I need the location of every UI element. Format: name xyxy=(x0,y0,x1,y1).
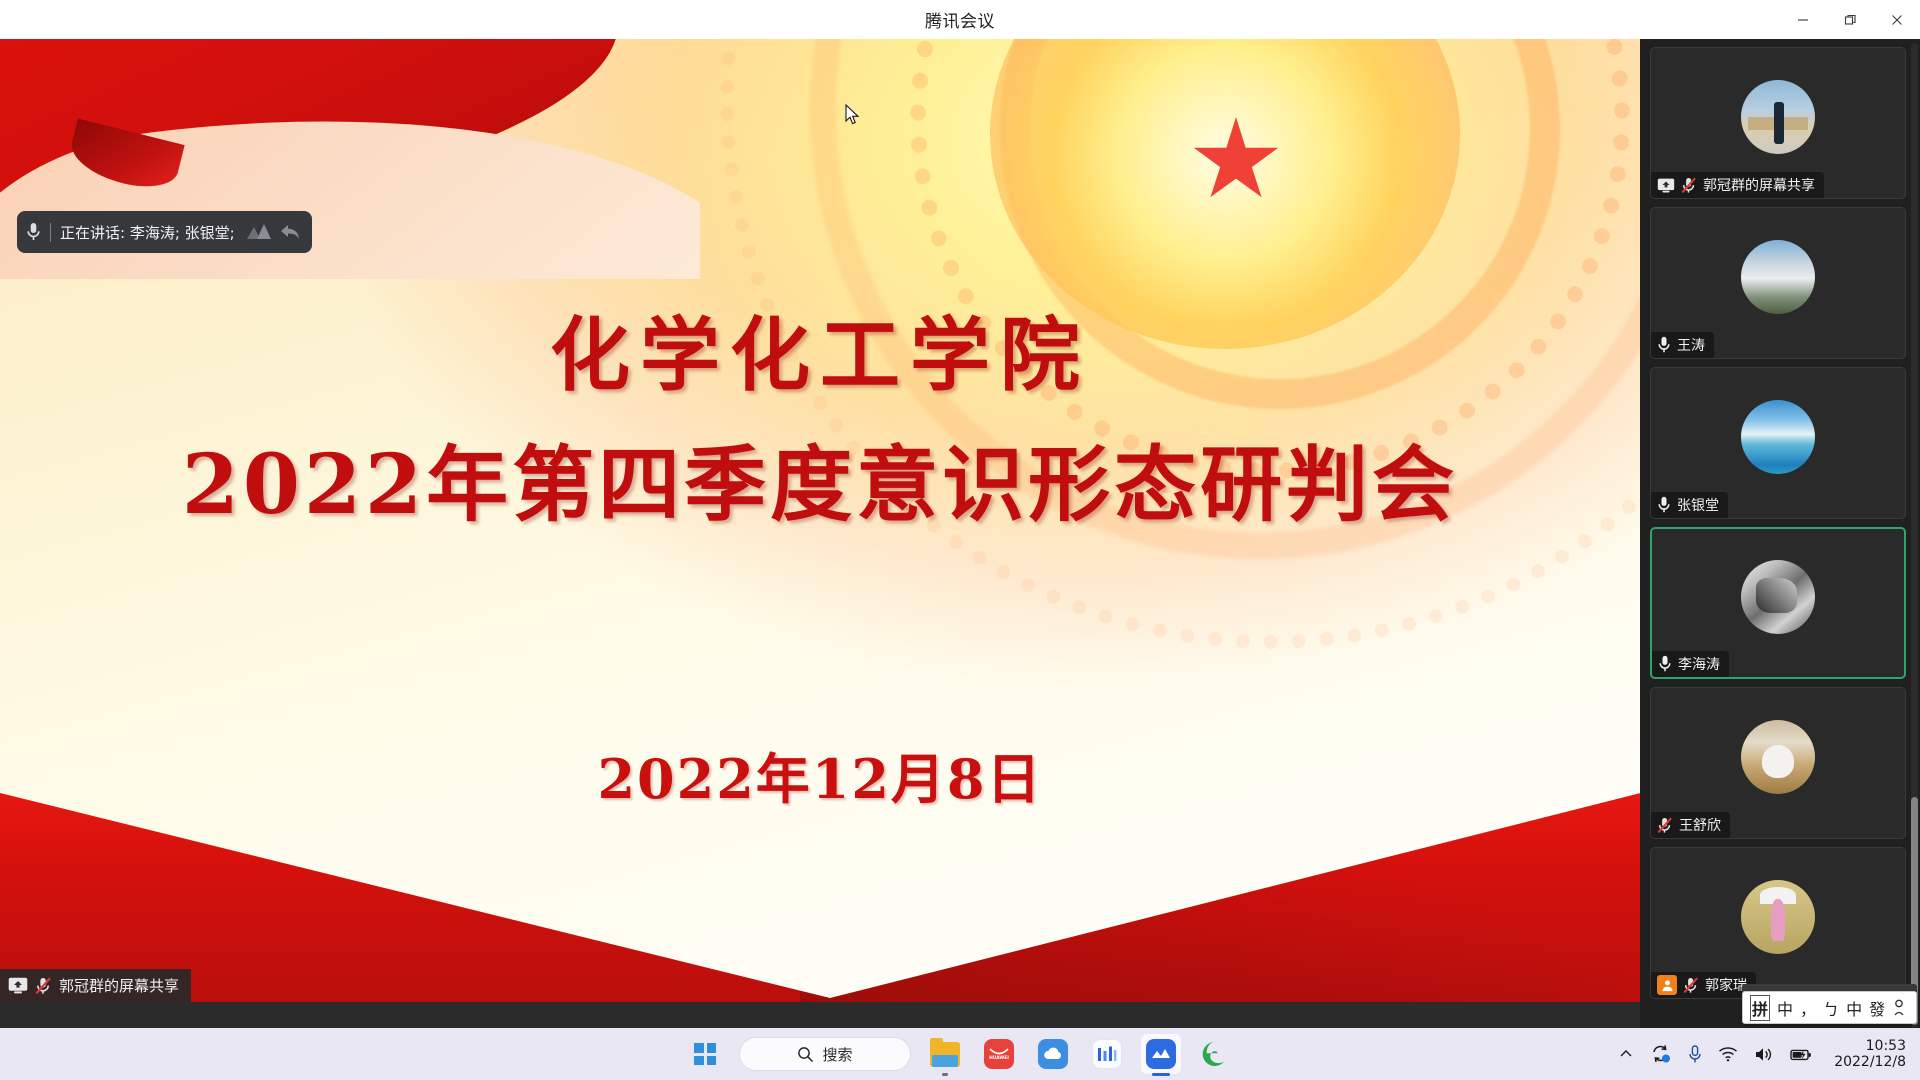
maximize-button[interactable] xyxy=(1826,0,1873,39)
ime-item-5[interactable]: 發 xyxy=(1869,996,1885,1020)
ime-item-1[interactable]: 中 xyxy=(1777,996,1793,1020)
taskbar-search-box[interactable]: 搜索 xyxy=(739,1037,911,1071)
close-button[interactable] xyxy=(1873,0,1920,39)
avatar xyxy=(1741,560,1815,634)
participant-tile[interactable]: 郭家瑞 xyxy=(1650,847,1906,999)
search-icon xyxy=(797,1046,814,1063)
participant-tile[interactable]: 王涛 xyxy=(1650,207,1906,359)
volume-icon[interactable] xyxy=(1754,1046,1774,1063)
clock-time: 10:53 xyxy=(1834,1038,1906,1054)
browser-icon xyxy=(1200,1039,1230,1069)
ime-floating-bar[interactable]: 拼 中 ， ㄅ 中 發 xyxy=(1742,991,1917,1024)
screen-share-status-label: 郭冠群的屏幕共享 xyxy=(59,975,179,996)
host-icon xyxy=(1657,975,1677,995)
participant-name: 郭冠群的屏幕共享 xyxy=(1703,175,1815,195)
microphone-muted-icon xyxy=(35,977,52,995)
ime-item-2[interactable]: ， xyxy=(1800,996,1816,1020)
ime-mode-pinyin[interactable]: 拼 xyxy=(1750,995,1770,1021)
speaking-indicator: 正在讲话: 李海涛; 张银堂; xyxy=(17,211,312,253)
tencent-meeting-icon xyxy=(1146,1039,1176,1069)
taskbar-app-file-explorer[interactable] xyxy=(925,1034,965,1074)
speaking-label: 正在讲话: 李海涛; 张银堂; xyxy=(60,222,235,243)
ime-settings-icon[interactable] xyxy=(1892,999,1906,1017)
chevron-up-icon[interactable] xyxy=(1618,1046,1634,1062)
participant-info-bar: 郭家瑞 xyxy=(1651,972,1756,998)
slide-title-line-1: 化学化工学院 xyxy=(0,315,1640,395)
sync-icon[interactable] xyxy=(1650,1044,1672,1064)
mouse-cursor-icon xyxy=(845,104,861,126)
participant-name: 王舒欣 xyxy=(1679,815,1721,835)
microphone-icon xyxy=(26,222,41,242)
participant-info-bar: 王舒欣 xyxy=(1651,812,1730,838)
search-placeholder-label: 搜索 xyxy=(822,1044,852,1065)
microphone-muted-icon xyxy=(1657,817,1673,834)
participant-tile-active-speaker[interactable]: 李海涛 xyxy=(1650,527,1906,679)
avatar xyxy=(1741,720,1815,794)
windows-start-button[interactable] xyxy=(685,1034,725,1074)
presentation-slide: 化学化工学院 2022年第四季度意识形态研判会 2022年12月8日 xyxy=(0,39,1640,1002)
participant-tile[interactable]: 张银堂 xyxy=(1650,367,1906,519)
microphone-muted-icon xyxy=(1681,177,1697,194)
svg-text:HUAWEI: HUAWEI xyxy=(989,1055,1009,1061)
participant-filmstrip[interactable]: 郭冠群的屏幕共享 王涛 xyxy=(1640,39,1920,1040)
microphone-icon xyxy=(1657,336,1671,354)
mountain-icon xyxy=(246,221,276,243)
participant-name: 张银堂 xyxy=(1677,495,1719,515)
microphone-muted-icon xyxy=(1683,977,1699,994)
cloud-icon xyxy=(1038,1039,1068,1069)
speaking-extra-icons xyxy=(246,221,302,243)
clock-date: 2022/12/8 xyxy=(1834,1054,1906,1070)
participant-name: 王涛 xyxy=(1677,335,1705,355)
slide-date-line: 2022年12月8日 xyxy=(0,752,1640,806)
taskbar-center-group: 搜索 HUAWEI xyxy=(685,1034,1235,1074)
reply-icon xyxy=(278,221,302,243)
ime-item-3[interactable]: ㄅ xyxy=(1823,996,1839,1020)
microphone-icon[interactable] xyxy=(1688,1045,1702,1064)
participant-tile[interactable]: 郭冠群的屏幕共享 xyxy=(1650,47,1906,199)
avatar xyxy=(1741,880,1815,954)
mindmap-icon xyxy=(1092,1039,1122,1069)
participant-tile[interactable]: 王舒欣 xyxy=(1650,687,1906,839)
microphone-icon xyxy=(1657,496,1671,514)
wifi-icon[interactable] xyxy=(1718,1046,1738,1062)
windows-logo-icon xyxy=(694,1043,716,1065)
minimize-button[interactable] xyxy=(1779,0,1826,39)
window-title: 腾讯会议 xyxy=(925,7,995,32)
participant-info-bar: 王涛 xyxy=(1651,332,1714,358)
divider xyxy=(50,223,51,242)
participant-info-bar: 张银堂 xyxy=(1651,492,1728,518)
taskbar-app-cloud-drive[interactable] xyxy=(1033,1034,1073,1074)
screen-share-icon xyxy=(1657,178,1675,193)
window-title-bar: 腾讯会议 xyxy=(0,0,1920,39)
system-tray: 10:53 2022/12/8 xyxy=(1618,1038,1906,1070)
participant-name: 郭家瑞 xyxy=(1705,975,1747,995)
participant-info-bar: 郭冠群的屏幕共享 xyxy=(1651,172,1824,198)
screen-share-status-bar: 郭冠群的屏幕共享 xyxy=(0,969,191,1002)
taskbar-clock[interactable]: 10:53 2022/12/8 xyxy=(1834,1038,1906,1070)
battery-icon[interactable] xyxy=(1790,1047,1812,1062)
participant-info-bar: 李海涛 xyxy=(1652,651,1729,677)
microphone-icon xyxy=(1658,655,1672,673)
participant-name: 李海涛 xyxy=(1678,654,1720,674)
window-controls xyxy=(1779,0,1920,39)
meeting-window-body: 化学化工学院 2022年第四季度意识形态研判会 2022年12月8日 正在讲话:… xyxy=(0,39,1920,1040)
screen-share-icon xyxy=(8,977,28,994)
avatar xyxy=(1741,400,1815,474)
huawei-icon: HUAWEI xyxy=(984,1039,1014,1069)
avatar xyxy=(1741,80,1815,154)
slide-title-line-2: 2022年第四季度意识形态研判会 xyxy=(0,444,1640,526)
taskbar-app-huawei[interactable]: HUAWEI xyxy=(979,1034,1019,1074)
windows-taskbar: 搜索 HUAWEI xyxy=(0,1028,1920,1080)
avatar xyxy=(1741,240,1815,314)
taskbar-app-browser[interactable] xyxy=(1195,1034,1235,1074)
ime-item-4[interactable]: 中 xyxy=(1846,996,1862,1020)
folder-icon xyxy=(930,1042,960,1067)
taskbar-app-mindmap[interactable] xyxy=(1087,1034,1127,1074)
taskbar-app-tencent-meeting[interactable] xyxy=(1141,1034,1181,1074)
shared-screen-stage[interactable]: 化学化工学院 2022年第四季度意识形态研判会 2022年12月8日 正在讲话:… xyxy=(0,39,1640,1002)
